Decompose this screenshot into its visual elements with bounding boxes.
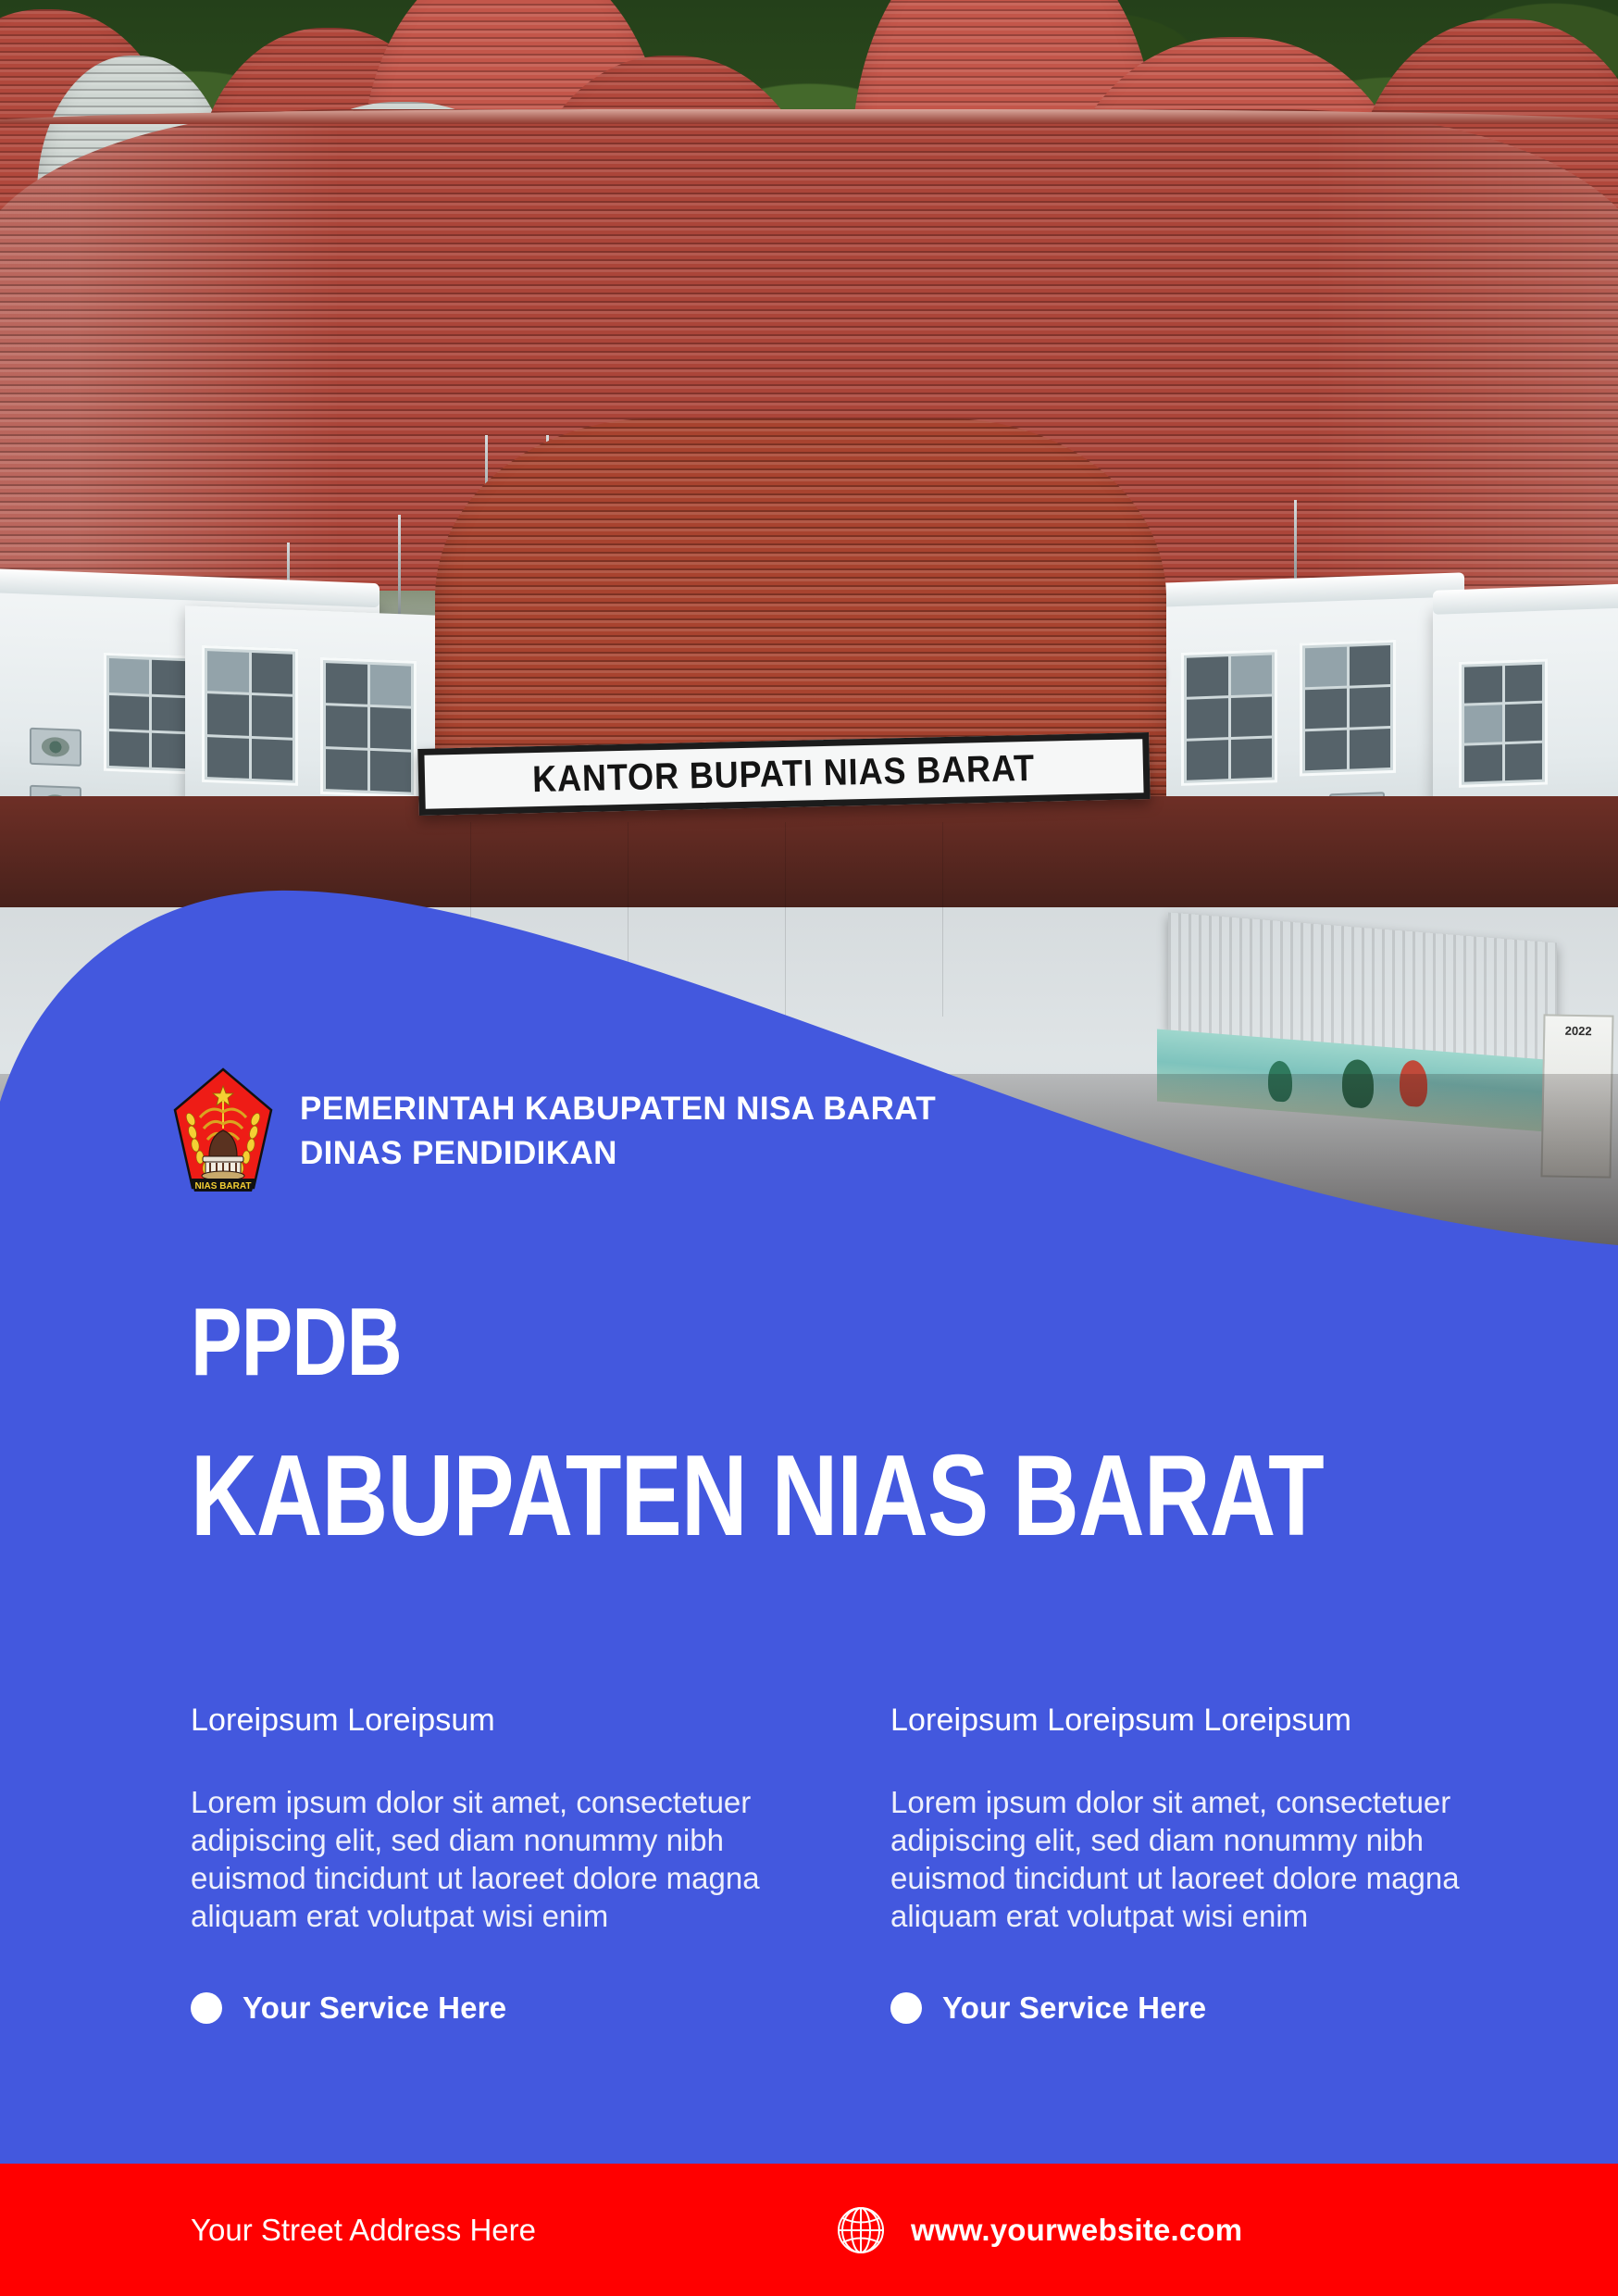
poster-canvas: KANTOR BUPATI NIAS BARAT 2022 <box>0 0 1618 2296</box>
crest-banner-label: NIAS BARAT <box>195 1181 252 1192</box>
text-columns: Loreipsum Loreipsum Lorem ipsum dolor si… <box>191 1702 1505 1935</box>
globe-icon <box>835 2204 887 2256</box>
organization-line-1: PEMERINTAH KABUPATEN NISA BARAT <box>300 1087 936 1131</box>
service-item-right[interactable]: Your Service Here <box>890 1990 1505 2026</box>
bullet-dot-icon <box>890 1992 922 2024</box>
column-right: Loreipsum Loreipsum Loreipsum Lorem ipsu… <box>890 1702 1505 1935</box>
column-left-body: Lorem ipsum dolor sit amet, consectetuer… <box>191 1783 805 1935</box>
organization-line-2: DINAS PENDIDIKAN <box>300 1131 936 1176</box>
bullet-dot-icon <box>191 1992 222 2024</box>
title-line-2: KABUPATEN NIAS BARAT <box>191 1439 1272 1554</box>
column-left: Loreipsum Loreipsum Lorem ipsum dolor si… <box>191 1702 805 1935</box>
poster-title: PPDB KABUPATEN NIAS BARAT <box>191 1294 1542 1554</box>
title-line-1: PPDB <box>191 1294 1272 1391</box>
column-right-body: Lorem ipsum dolor sit amet, consectetuer… <box>890 1783 1505 1935</box>
organization-name: PEMERINTAH KABUPATEN NISA BARAT DINAS PE… <box>300 1087 936 1176</box>
poster-content: NIAS BARAT PEMERINTAH KABUPATEN NISA BAR… <box>0 0 1618 2296</box>
footer-website-group[interactable]: www.yourwebsite.com <box>835 2204 1242 2256</box>
organization-header: NIAS BARAT PEMERINTAH KABUPATEN NISA BAR… <box>172 1067 936 1195</box>
nias-barat-crest-icon: NIAS BARAT <box>172 1067 274 1195</box>
service-list: Your Service Here Your Service Here <box>191 1990 1505 2026</box>
footer-website-url: www.yourwebsite.com <box>911 2213 1242 2248</box>
column-right-heading: Loreipsum Loreipsum Loreipsum <box>890 1702 1505 1739</box>
footer-address: Your Street Address Here <box>191 2213 536 2248</box>
service-item-left[interactable]: Your Service Here <box>191 1990 805 2026</box>
column-left-heading: Loreipsum Loreipsum <box>191 1702 805 1739</box>
service-label-right: Your Service Here <box>942 1990 1206 2026</box>
footer-bar: Your Street Address Here www.yourwebsite… <box>0 2164 1618 2296</box>
service-label-left: Your Service Here <box>243 1990 506 2026</box>
